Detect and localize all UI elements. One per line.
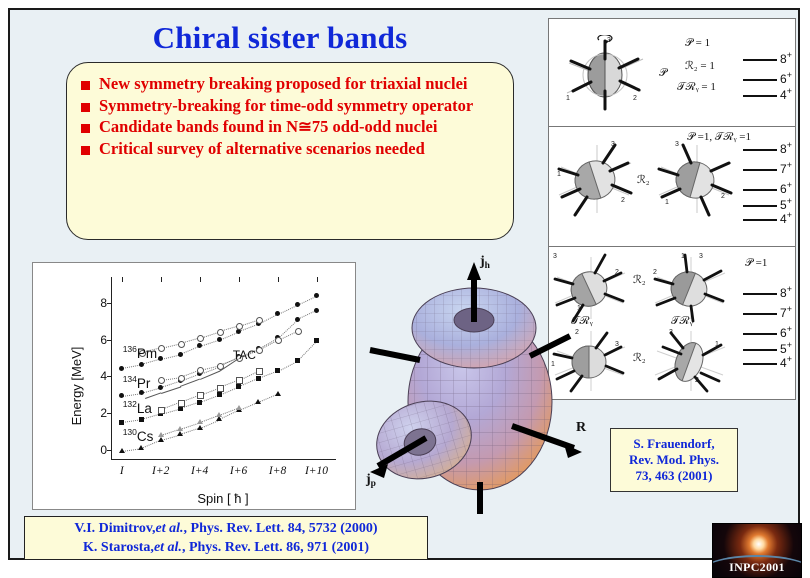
- axis-number: 2: [653, 269, 657, 276]
- operator-symbol: ℛ₂: [637, 173, 650, 186]
- reference-line: 73, 463 (2001): [636, 468, 713, 484]
- axis-number: 3: [615, 341, 619, 348]
- list-item: Symmetry-breaking for time-odd symmetry …: [81, 96, 499, 116]
- isotope-label: 130Cs: [123, 427, 154, 444]
- data-point: [295, 328, 302, 335]
- logo-text: INPC2001: [713, 560, 801, 575]
- list-item: Critical survey of alternative scenarios…: [81, 139, 499, 159]
- y-tick-mark: [107, 413, 112, 414]
- level-label: 6: [780, 72, 787, 86]
- bullet-square-icon: [81, 146, 90, 155]
- nucleus-glyph: 3 1 2: [553, 141, 637, 224]
- axis-number: 2: [633, 95, 637, 102]
- axis-number: 3: [699, 253, 703, 260]
- series-connector: [161, 386, 181, 393]
- data-point: [178, 406, 183, 411]
- data-point: [256, 317, 263, 324]
- data-point: [275, 368, 280, 373]
- level-sup: +: [787, 70, 792, 80]
- level-sup: +: [787, 354, 792, 364]
- axis-number: 1: [566, 95, 570, 102]
- y-axis-label: Energy [MeV]: [69, 347, 84, 426]
- bullet-text: Symmetry-breaking for time-odd symmetry …: [99, 96, 473, 116]
- data-point: [178, 400, 185, 407]
- data-point: [119, 420, 124, 425]
- reference-line: S. Frauendorf,: [633, 436, 714, 452]
- y-tick-mark: [107, 340, 112, 341]
- axis-number: 2: [721, 193, 725, 200]
- level-sup: +: [787, 304, 792, 314]
- data-point: [295, 358, 300, 363]
- series-connector: [297, 340, 317, 361]
- axis-number: 1: [681, 253, 685, 260]
- level-label: 7: [780, 306, 787, 320]
- data-point: [119, 448, 125, 453]
- data-point: [295, 302, 300, 307]
- axis-number: 2: [621, 197, 625, 204]
- data-point: [216, 416, 222, 421]
- bullet-square-icon: [81, 103, 90, 112]
- triaxial-nucleus-figure: jh jp R: [362, 250, 612, 520]
- level-sup: +: [787, 284, 792, 294]
- level-sup: +: [787, 140, 792, 150]
- x-axis-tick: I+6: [230, 459, 247, 477]
- symmetry-condition: 𝒫 =1: [745, 257, 767, 270]
- symmetry-condition: 𝒯ℛᵧ = 1: [677, 81, 716, 94]
- data-point: [197, 400, 202, 405]
- vector-label-R: R: [576, 420, 586, 436]
- isotope-label: 134Pr: [123, 374, 151, 391]
- data-point: [217, 329, 224, 336]
- data-point: [236, 405, 242, 410]
- level-sup: +: [787, 340, 792, 350]
- axis-number: 1: [557, 171, 561, 178]
- bullet-square-icon: [81, 124, 90, 133]
- x-tick-mark: [278, 277, 279, 282]
- data-point: [139, 417, 144, 422]
- bullet-callout-box: New symmetry breaking proposed for triax…: [66, 62, 514, 240]
- data-point: [217, 392, 222, 397]
- data-point: [275, 391, 281, 396]
- level-label: 8: [780, 52, 787, 66]
- energy-spin-chart: Energy [MeV] Spin [ ħ ] 02468II+2I+4I+6I…: [32, 262, 356, 510]
- level-label: 8: [780, 142, 787, 156]
- plot-area: 02468II+2I+4I+6I+8I+10TAC136Pm134Pr132La…: [111, 277, 336, 460]
- axis-number: 2: [615, 269, 619, 276]
- slide-canvas: Chiral sister bands New symmetry breakin…: [8, 8, 800, 560]
- level-label: 6: [780, 326, 787, 340]
- bullet-text: New symmetry breaking proposed for triax…: [99, 74, 467, 94]
- bullet-square-icon: [81, 81, 90, 90]
- axis-number: 3: [669, 329, 673, 336]
- series-connector: [278, 305, 298, 315]
- data-point: [275, 311, 280, 316]
- axis-number: 3: [607, 37, 611, 44]
- level-sup: +: [787, 160, 792, 170]
- reference-box: S. Frauendorf, Rev. Mod. Phys. 73, 463 (…: [610, 428, 738, 492]
- data-point: [197, 392, 204, 399]
- data-point: [158, 437, 164, 442]
- symmetry-condition: ℛ₂ = 1: [685, 59, 715, 72]
- data-point: [119, 366, 124, 371]
- symmetry-row-1: 3 1 2 𝒫 𝒫 = 1 ℛ₂ = 1 𝒯ℛᵧ = 1 8+ 6+ 4+: [549, 19, 795, 127]
- bullet-text: Critical survey of alternative scenarios…: [99, 139, 425, 159]
- operator-symbol: 𝒯ℛᵧ: [671, 315, 693, 328]
- level-label: 4: [780, 212, 787, 226]
- data-point: [256, 368, 263, 375]
- level-sup: +: [787, 86, 792, 96]
- level-sup: +: [787, 324, 792, 334]
- data-point: [197, 343, 202, 348]
- vector-label-jh: jh: [480, 254, 490, 271]
- data-point: [158, 432, 164, 437]
- x-axis-tick: I+8: [269, 459, 286, 477]
- level-label: 4: [780, 356, 787, 370]
- data-point: [138, 445, 144, 450]
- operator-symbol: ℛ₂: [633, 351, 646, 364]
- data-point: [139, 362, 144, 367]
- x-axis-tick: I+4: [191, 459, 208, 477]
- axis-number: 1: [665, 199, 669, 206]
- bullet-text: Candidate bands found in N≅75 odd-odd nu…: [99, 117, 437, 137]
- data-point: [295, 317, 300, 322]
- data-point: [178, 352, 183, 357]
- data-point: [158, 407, 165, 414]
- data-point: [256, 347, 263, 354]
- x-axis-label: Spin [ ħ ]: [111, 491, 335, 506]
- list-item: Candidate bands found in N≅75 odd-odd nu…: [81, 117, 499, 137]
- citation-line: K. Starosta,et al., Phys. Rev. Lett. 86,…: [83, 538, 369, 557]
- level-label: 8: [780, 286, 787, 300]
- data-point: [197, 335, 204, 342]
- data-point: [178, 375, 185, 382]
- data-point: [314, 308, 319, 313]
- data-point: [255, 399, 261, 404]
- data-point: [256, 376, 261, 381]
- data-point: [197, 419, 203, 424]
- operator-symbol: 𝒫: [659, 67, 667, 80]
- data-point: [314, 293, 319, 298]
- level-sup: +: [787, 196, 792, 206]
- nucleus-glyph: 3 1 2: [653, 141, 737, 224]
- data-point: [158, 356, 163, 361]
- x-tick-mark: [239, 277, 240, 282]
- level-label: 4: [780, 88, 787, 102]
- vector-label-jp: jp: [366, 472, 376, 489]
- axis-number: 3: [611, 141, 615, 148]
- level-sup: +: [787, 210, 792, 220]
- data-point: [158, 345, 165, 352]
- x-tick-mark: [122, 277, 123, 282]
- page-title: Chiral sister bands: [10, 20, 550, 56]
- axis-number: 3: [675, 141, 679, 148]
- data-point: [178, 341, 185, 348]
- data-point: [119, 393, 124, 398]
- citation-line: V.I. Dimitrov,et al., Phys. Rev. Lett. 8…: [74, 519, 377, 538]
- data-point: [275, 337, 282, 344]
- data-point: [314, 338, 319, 343]
- symmetry-row-2: 𝒫 =1, 𝒯ℛᵧ =1 3 1 2: [549, 127, 795, 247]
- reference-line: Rev. Mod. Phys.: [629, 452, 719, 468]
- y-tick-mark: [107, 376, 112, 377]
- data-point: [217, 337, 222, 342]
- data-point: [177, 431, 183, 436]
- operator-symbol: ℛ₂: [633, 273, 646, 286]
- list-item: New symmetry breaking proposed for triax…: [81, 74, 499, 94]
- level-sup: +: [787, 50, 792, 60]
- data-point: [236, 377, 243, 384]
- level-label: 6: [780, 182, 787, 196]
- data-point: [217, 385, 224, 392]
- isotope-label: 132La: [123, 399, 152, 416]
- data-point: [139, 390, 144, 395]
- level-label: 7: [780, 162, 787, 176]
- y-tick-mark: [107, 450, 112, 451]
- data-point: [197, 425, 203, 430]
- data-point: [216, 412, 222, 417]
- x-axis-tick: I: [120, 459, 124, 477]
- series-connector: [145, 393, 161, 399]
- symmetry-condition: 𝒫 = 1: [685, 37, 710, 50]
- nucleus-glyph: 3 1 2: [651, 329, 731, 400]
- data-point: [158, 377, 165, 384]
- y-tick-mark: [107, 303, 112, 304]
- data-point: [158, 385, 163, 390]
- axis-number: 1: [715, 341, 719, 348]
- data-point: [177, 426, 183, 431]
- axis-number: 2: [695, 377, 699, 384]
- x-tick-mark: [161, 277, 162, 282]
- level-sup: +: [787, 180, 792, 190]
- nucleus-glyph: 3 1 2: [559, 35, 651, 120]
- x-axis-tick: I+2: [152, 459, 169, 477]
- isotope-label: 136Pm: [123, 344, 157, 361]
- data-point: [236, 384, 241, 389]
- x-tick-mark: [200, 277, 201, 282]
- x-tick-mark: [317, 277, 318, 282]
- citation-box: V.I. Dimitrov,et al., Phys. Rev. Lett. 8…: [24, 516, 428, 560]
- tac-annotation: TAC: [233, 348, 256, 362]
- x-axis-tick: I+10: [305, 459, 328, 477]
